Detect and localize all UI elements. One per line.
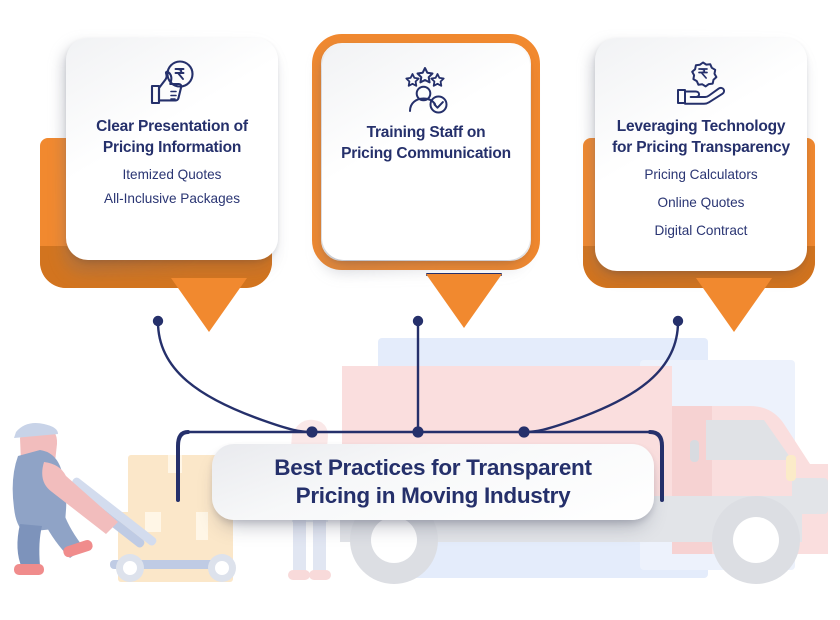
- card-face: Leveraging Technology for Pricing Transp…: [595, 38, 807, 271]
- card-title-line1: Leveraging Technology: [617, 118, 786, 135]
- card-title-line2: Pricing Information: [103, 139, 241, 156]
- infographic-canvas: Clear Presentation of Pricing Informatio…: [0, 0, 840, 620]
- down-arrow-icon: [696, 278, 772, 332]
- card-title: Clear Presentation of Pricing Informatio…: [76, 116, 268, 158]
- card-item: Digital Contract: [605, 223, 797, 240]
- card-item: Pricing Calculators: [605, 167, 797, 184]
- card-title-line2: for Pricing Transparency: [612, 139, 790, 156]
- card-item: Online Quotes: [605, 195, 797, 212]
- down-arrow-icon: [171, 278, 247, 332]
- card-clear-presentation[interactable]: Clear Presentation of Pricing Informatio…: [40, 30, 290, 320]
- card-item: All-Inclusive Packages: [76, 191, 268, 208]
- card-face: Training Staff on Pricing Communication: [322, 44, 530, 260]
- banner-title: Best Practices for Transparent Pricing i…: [274, 454, 591, 511]
- card-item: Itemized Quotes: [76, 167, 268, 184]
- staff-rating-verified-icon: [332, 62, 520, 118]
- banner: Best Practices for Transparent Pricing i…: [212, 444, 654, 520]
- banner-title-line2: Pricing in Moving Industry: [296, 483, 571, 508]
- down-arrow-icon: [426, 274, 502, 328]
- card-title: Training Staff on Pricing Communication: [332, 122, 520, 164]
- card-leveraging-technology[interactable]: Leveraging Technology for Pricing Transp…: [565, 30, 815, 320]
- card-title-line2: Pricing Communication: [341, 145, 511, 162]
- card-title: Leveraging Technology for Pricing Transp…: [605, 116, 797, 158]
- card-title-line1: Training Staff on: [367, 124, 486, 141]
- card-training-staff[interactable]: Training Staff on Pricing Communication: [310, 30, 560, 320]
- hand-holding-rupee-icon: [605, 56, 797, 112]
- card-face: Clear Presentation of Pricing Informatio…: [66, 38, 278, 260]
- thumbs-up-rupee-icon: [76, 56, 268, 112]
- card-title-line1: Clear Presentation of: [96, 118, 248, 135]
- banner-title-line1: Best Practices for Transparent: [274, 455, 591, 480]
